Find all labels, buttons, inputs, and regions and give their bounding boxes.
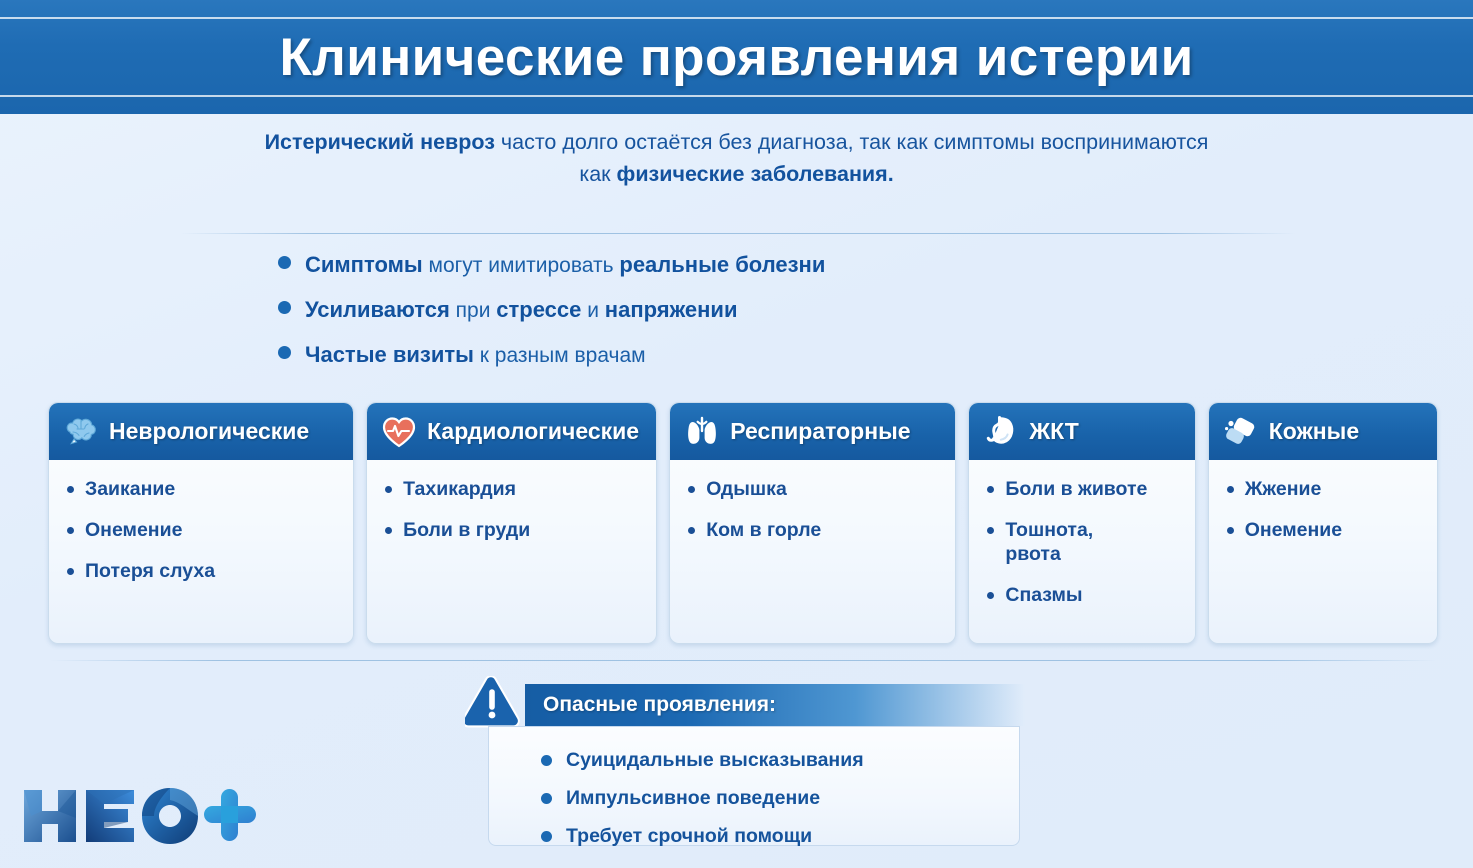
list-item-label: Потеря слуха [85,559,215,583]
bullet-dot-icon [67,527,74,534]
card-header: ЖКТ [969,403,1194,460]
key-point-lead: Частые визиты [305,342,474,367]
card-header: Неврологические [49,403,353,460]
key-point-mid: могут имитировать [423,254,620,277]
key-point-tail: и [581,299,604,322]
key-points-list: Симптомы могут имитировать реальные боле… [278,252,1178,387]
list-item: Требует срочной помощи [541,817,1019,855]
bullet-dot-icon [541,831,552,842]
card-body: Заикание Онемение Потеря слуха [49,460,353,610]
list-item: Онемение [1227,518,1423,542]
bullet-dot-icon [541,755,552,766]
divider-top [180,233,1295,234]
danger-signs-header: Опасные проявления: [525,684,1025,726]
list-item-label: Ком в горле [706,518,821,542]
list-item-label: Боли в груди [403,518,530,542]
key-point-mid: к разным врачам [474,344,646,367]
page-header: Клинические проявления истерии [0,0,1473,114]
card-body: Тахикардия Боли в груди [367,460,656,569]
neo-plus-logo [18,778,258,850]
divider-bottom [50,660,1438,661]
list-item-label: Тошнота, рвота [1005,518,1093,566]
brain-icon [61,412,101,452]
list-item: Боли в груди [385,518,642,542]
card-body: Жжение Онемение [1209,460,1437,569]
key-point-lead: Усиливаются [305,297,450,322]
lead-bold-term-2: физические заболевания. [617,162,894,186]
bullet-dot-icon [987,486,994,493]
list-item: Боли в животе [987,477,1180,501]
card-neurological[interactable]: Неврологические Заикание Онемение Потеря… [48,402,354,644]
bullet-dot-icon [688,527,695,534]
key-point-emph: реальные болезни [619,252,825,277]
page-title: Клинические проявления истерии [279,27,1193,88]
card-header: Респираторные [670,403,955,460]
list-item-label: Импульсивное поведение [566,787,820,810]
lead-line-1: Истерический невроз часто долго остаётся… [120,126,1353,158]
header-rule-top [0,17,1473,19]
list-item-label: Тахикардия [403,477,516,501]
bullet-dot-icon [541,793,552,804]
key-point-emph: стрессе [496,297,581,322]
list-item: Спазмы [987,583,1180,607]
card-title: Кожные [1269,418,1359,445]
card-body: Боли в животе Тошнота, рвота Спазмы [969,460,1194,634]
key-point-text: Частые визиты к разным врачам [305,342,646,368]
list-item: Онемение [67,518,339,542]
card-skin[interactable]: Кожные Жжение Онемение [1208,402,1438,644]
bullet-dot-icon [278,346,291,359]
card-header: Кожные [1209,403,1437,460]
bullet-dot-icon [385,527,392,534]
key-point-mid: при [450,299,496,322]
list-item: Импульсивное поведение [541,779,1019,817]
list-item-label: Требует срочной помощи [566,825,812,848]
bullet-dot-icon [688,486,695,493]
list-item-label: Онемение [85,518,182,542]
key-point-row: Частые визиты к разным врачам [278,342,1178,387]
header-rule-bottom [0,95,1473,97]
lead-line-2-pre: как [579,162,616,186]
card-cardiological[interactable]: Кардиологические Тахикардия Боли в груди [366,402,657,644]
bullet-dot-icon [987,592,994,599]
list-item: Потеря слуха [67,559,339,583]
key-point-row: Симптомы могут имитировать реальные боле… [278,252,1178,297]
card-title: Кардиологические [427,418,639,445]
symptom-category-cards: Неврологические Заикание Онемение Потеря… [48,402,1438,644]
list-item: Ком в горле [688,518,941,542]
list-item-label: Заикание [85,477,175,501]
list-item-label: Онемение [1245,518,1342,542]
card-header: Кардиологические [367,403,656,460]
list-item: Жжение [1227,477,1423,501]
list-item: Заикание [67,477,339,501]
list-item-label: Спазмы [1005,583,1082,607]
danger-signs-box: Опасные проявления: Суицидальные высказы… [465,676,1025,861]
key-point-text: Симптомы могут имитировать реальные боле… [305,252,825,278]
list-item: Тахикардия [385,477,642,501]
danger-signs-list: Суицидальные высказывания Импульсивное п… [488,726,1020,846]
list-item-label: Жжение [1245,477,1322,501]
stomach-icon [981,412,1021,452]
list-item-label: Суицидальные высказывания [566,749,864,772]
bullet-dot-icon [67,568,74,575]
bullet-dot-icon [1227,486,1234,493]
key-point-emph-2: напряжении [605,297,738,322]
lead-paragraph: Истерический невроз часто долго остаётся… [0,126,1473,190]
bullet-dot-icon [385,486,392,493]
list-item-label: Боли в животе [1005,477,1147,501]
lungs-icon [682,412,722,452]
heart-ecg-icon [379,412,419,452]
card-title: Респираторные [730,418,910,445]
card-title: ЖКТ [1029,418,1078,445]
card-gastrointestinal[interactable]: ЖКТ Боли в животе Тошнота, рвота Спазмы [968,402,1195,644]
list-item-label: Одышка [706,477,787,501]
danger-signs-title: Опасные проявления: [543,693,776,716]
lead-bold-term: Истерический невроз [265,130,495,154]
bullet-dot-icon [987,527,994,534]
list-item: Одышка [688,477,941,501]
lead-line-2: как физические заболевания. [120,158,1353,190]
list-item: Суицидальные высказывания [541,741,1019,779]
bullet-dot-icon [278,301,291,314]
card-respiratory[interactable]: Респираторные Одышка Ком в горле [669,402,956,644]
key-point-row: Усиливаются при стрессе и напряжении [278,297,1178,342]
key-point-lead: Симптомы [305,252,423,277]
bullet-dot-icon [67,486,74,493]
card-title: Неврологические [109,418,309,445]
skin-patch-icon [1221,412,1261,452]
list-item: Тошнота, рвота [987,518,1180,566]
card-body: Одышка Ком в горле [670,460,955,569]
bullet-dot-icon [1227,527,1234,534]
key-point-text: Усиливаются при стрессе и напряжении [305,297,737,323]
lead-line-1-rest: часто долго остаётся без диагноза, так к… [495,130,1208,154]
bullet-dot-icon [278,256,291,269]
